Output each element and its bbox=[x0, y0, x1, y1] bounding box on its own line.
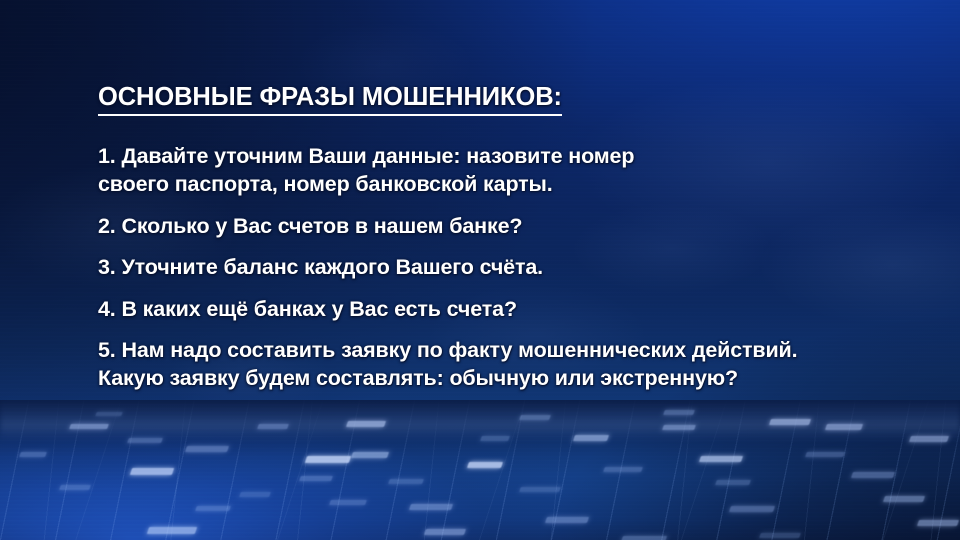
floor-chip bbox=[519, 487, 561, 492]
floor-chip bbox=[69, 424, 109, 429]
slide-canvas: ОСНОВНЫЕ ФРАЗЫ МОШЕННИКОВ: 1. Давайте ут… bbox=[0, 0, 960, 540]
floor-chip bbox=[185, 446, 229, 452]
floor-chip bbox=[621, 536, 667, 540]
floor-chip bbox=[662, 425, 696, 430]
floor-chip bbox=[130, 468, 174, 475]
floor-chip bbox=[329, 500, 367, 505]
floor-chip bbox=[759, 533, 801, 538]
floor-chip bbox=[195, 506, 231, 511]
phrase-item: 2. Сколько у Вас счетов в нашем банке? bbox=[98, 212, 898, 240]
floor-chip bbox=[715, 480, 751, 485]
floor-chip bbox=[663, 410, 695, 415]
floor-chip bbox=[467, 462, 503, 468]
phrase-line: 3. Уточните баланс каждого Вашего счёта. bbox=[98, 253, 898, 281]
floor-chip bbox=[351, 452, 389, 458]
floor-chip bbox=[95, 412, 122, 416]
floor-chip bbox=[825, 424, 863, 430]
floor-chip bbox=[805, 452, 845, 457]
floor-chip bbox=[729, 506, 775, 512]
floor-chip bbox=[603, 467, 643, 472]
phrase-item: 5. Нам надо составить заявку по факту мо… bbox=[98, 336, 898, 393]
floor-chip bbox=[573, 435, 609, 441]
floor-chip bbox=[769, 419, 811, 425]
text-block: ОСНОВНЫЕ ФРАЗЫ МОШЕННИКОВ: 1. Давайте ут… bbox=[98, 84, 898, 393]
phrase-item: 1. Давайте уточним Ваши данные: назовите… bbox=[98, 142, 898, 199]
phrase-line: своего паспорта, номер банковской карты. bbox=[98, 170, 898, 198]
floor-chip bbox=[424, 529, 466, 535]
phrase-line: 4. В каких ещё банках у Вас есть счета? bbox=[98, 295, 898, 323]
floor-chip bbox=[851, 472, 895, 478]
phrase-line: Какую заявку будем составлять: обычную и… bbox=[98, 364, 898, 392]
floor-chip bbox=[909, 436, 949, 442]
floor-chip bbox=[519, 415, 551, 420]
floor-chip bbox=[59, 485, 91, 490]
floor-chip bbox=[299, 476, 333, 481]
floor-chip bbox=[388, 479, 424, 484]
phrase-item: 3. Уточните баланс каждого Вашего счёта. bbox=[98, 253, 898, 281]
floor-chip bbox=[239, 492, 271, 497]
phrase-item: 4. В каких ещё банках у Вас есть счета? bbox=[98, 295, 898, 323]
floor-chip bbox=[409, 504, 453, 510]
floor-chip bbox=[257, 424, 289, 429]
floor-chip bbox=[305, 456, 351, 463]
floor-chip bbox=[699, 456, 743, 462]
floor-chip bbox=[883, 496, 925, 502]
floor-chip bbox=[147, 527, 197, 534]
phrase-line: 2. Сколько у Вас счетов в нашем банке? bbox=[98, 212, 898, 240]
phrase-list: 1. Давайте уточним Ваши данные: назовите… bbox=[98, 142, 898, 393]
floor-chip bbox=[127, 438, 163, 443]
phrase-line: 5. Нам надо составить заявку по факту мо… bbox=[98, 336, 898, 364]
phrase-line: 1. Давайте уточним Ваши данные: назовите… bbox=[98, 142, 898, 170]
page-title: ОСНОВНЫЕ ФРАЗЫ МОШЕННИКОВ: bbox=[98, 84, 562, 116]
floor-chip bbox=[346, 421, 386, 427]
floor-chip bbox=[917, 520, 959, 526]
floor-chip bbox=[545, 517, 589, 523]
floor-chip bbox=[480, 436, 510, 441]
floor-chip bbox=[19, 452, 47, 457]
